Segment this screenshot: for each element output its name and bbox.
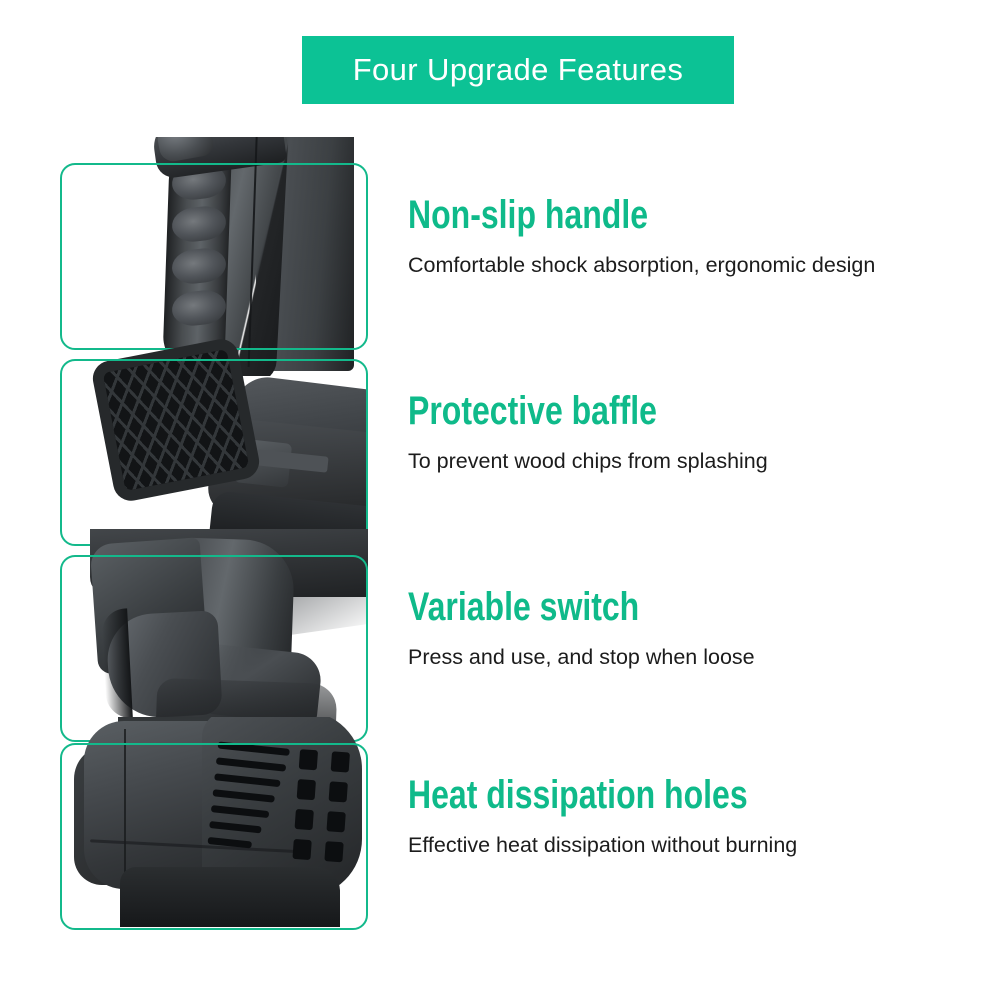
feature-text-3: Variable switch Press and use, and stop …: [408, 555, 953, 671]
photo-frame-2: [60, 359, 368, 546]
product-feature-infographic: Four Upgrade Features Non-slip handle Co…: [0, 0, 983, 983]
feature-subtitle: Press and use, and stop when loose: [408, 643, 953, 671]
feature-row-3: Variable switch Press and use, and stop …: [0, 555, 983, 742]
feature-subtitle: To prevent wood chips from splashing: [408, 447, 953, 475]
feature-row-2: Protective baffle To prevent wood chips …: [0, 359, 983, 546]
feature-title: Variable switch: [408, 584, 844, 630]
photo-frame-4: [60, 743, 368, 930]
feature-row-4: Heat dissipation holes Effective heat di…: [0, 743, 983, 930]
banner: Four Upgrade Features: [302, 36, 734, 104]
feature-row-1: Non-slip handle Comfortable shock absorp…: [0, 163, 983, 350]
feature-title: Protective baffle: [408, 388, 844, 434]
feature-text-4: Heat dissipation holes Effective heat di…: [408, 743, 953, 859]
photo-frame-1: [60, 163, 368, 350]
feature-title: Heat dissipation holes: [408, 772, 844, 818]
feature-text-2: Protective baffle To prevent wood chips …: [408, 359, 953, 475]
feature-subtitle: Effective heat dissipation without burni…: [408, 831, 953, 859]
photo-frame-3: [60, 555, 368, 742]
feature-title: Non-slip handle: [408, 192, 844, 238]
feature-text-1: Non-slip handle Comfortable shock absorp…: [408, 163, 953, 279]
banner-title: Four Upgrade Features: [353, 52, 684, 88]
feature-subtitle: Comfortable shock absorption, ergonomic …: [408, 251, 953, 279]
